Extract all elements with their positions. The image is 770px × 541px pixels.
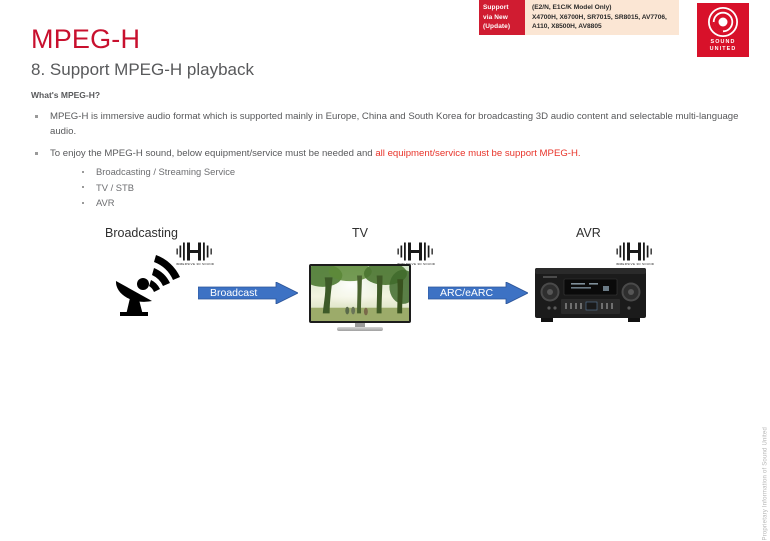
support-callout: Support via New (Update) (E2/N, E1C/K Mo… <box>479 0 679 35</box>
sound-united-wordmark-line-2: UNITED <box>710 46 737 53</box>
section-eyebrow: What's MPEG-H? <box>31 90 100 100</box>
sound-united-logo: SOUND UNITED <box>697 3 749 57</box>
support-callout-tag: Support via New (Update) <box>479 0 525 35</box>
sub-bullet-text: Broadcasting / Streaming Service <box>96 166 235 177</box>
bullet-text: MPEG-H is immersive audio format which i… <box>50 111 738 137</box>
sub-bullet-item: TV / STB <box>78 180 235 196</box>
broadcast-arrow-label: Broadcast <box>198 282 298 304</box>
stage-label-tv: TV <box>352 226 368 240</box>
av-receiver-icon <box>533 266 648 324</box>
support-callout-tag-line-2: via New <box>483 13 525 23</box>
sub-bullet-list: Broadcasting / Streaming Service TV / ST… <box>78 164 235 211</box>
sound-united-wordmark: SOUND UNITED <box>710 39 737 52</box>
bullet-text-highlight: all equipment/service must be support MP… <box>375 148 580 159</box>
bullet-list: MPEG-H is immersive audio format which i… <box>28 110 743 170</box>
support-callout-tag-line-3: (Update) <box>483 22 525 32</box>
bullet-item: MPEG-H is immersive audio format which i… <box>28 110 743 139</box>
sub-bullet-dot-icon <box>82 171 84 173</box>
stage-label-broadcasting: Broadcasting <box>105 226 178 240</box>
bullet-dot-icon <box>35 115 38 118</box>
sub-bullet-item: Broadcasting / Streaming Service <box>78 164 235 180</box>
proprietary-note: Proprietary Information of Sound United <box>763 427 769 541</box>
bullet-item: To enjoy the MPEG-H sound, below equipme… <box>28 147 743 162</box>
bullet-dot-icon <box>35 152 38 155</box>
sound-united-wordmark-line-1: SOUND <box>710 39 737 46</box>
sub-bullet-item: AVR <box>78 195 235 211</box>
sound-united-mark-icon <box>708 7 738 37</box>
page-subtitle: 8. Support MPEG-H playback <box>31 60 254 80</box>
tv-stand-base <box>337 327 383 331</box>
satellite-dish-icon <box>110 251 190 317</box>
broadcast-arrow: Broadcast <box>198 282 298 304</box>
support-callout-tag-line-1: Support <box>483 3 525 13</box>
mpegh-logo-icon-avr: IMMERSIVE 3D SOUND <box>610 240 660 266</box>
mpegh-logo-icon-tv: IMMERSIVE 3D SOUND <box>391 240 441 266</box>
support-callout-model-line-2: X4700H, X6700H, SR7015, SR8015, AV7706, <box>532 13 679 23</box>
tv-screen <box>311 266 409 321</box>
tv-screen-image <box>311 266 409 321</box>
support-callout-models: (E2/N, E1C/K Model Only) X4700H, X6700H,… <box>525 0 679 35</box>
sub-bullet-dot-icon <box>82 186 84 188</box>
signal-flow-diagram: Broadcasting TV AVR IMMERSIVE 3D SOUND <box>0 218 770 343</box>
page-title: MPEG-H <box>31 24 140 55</box>
sub-bullet-text: AVR <box>96 197 115 208</box>
sub-bullet-text: TV / STB <box>96 182 134 193</box>
sub-bullet-dot-icon <box>82 202 84 204</box>
support-callout-model-line-3: A110, X8500H, AV8805 <box>532 22 679 32</box>
arc-earc-arrow: ARC/eARC <box>428 282 528 304</box>
bullet-text: To enjoy the MPEG-H sound, below equipme… <box>50 148 375 159</box>
support-callout-model-line-1: (E2/N, E1C/K Model Only) <box>532 3 679 13</box>
arc-earc-arrow-label: ARC/eARC <box>428 282 528 304</box>
tv-frame <box>309 264 411 323</box>
stage-label-avr: AVR <box>576 226 601 240</box>
television-icon <box>309 264 411 332</box>
